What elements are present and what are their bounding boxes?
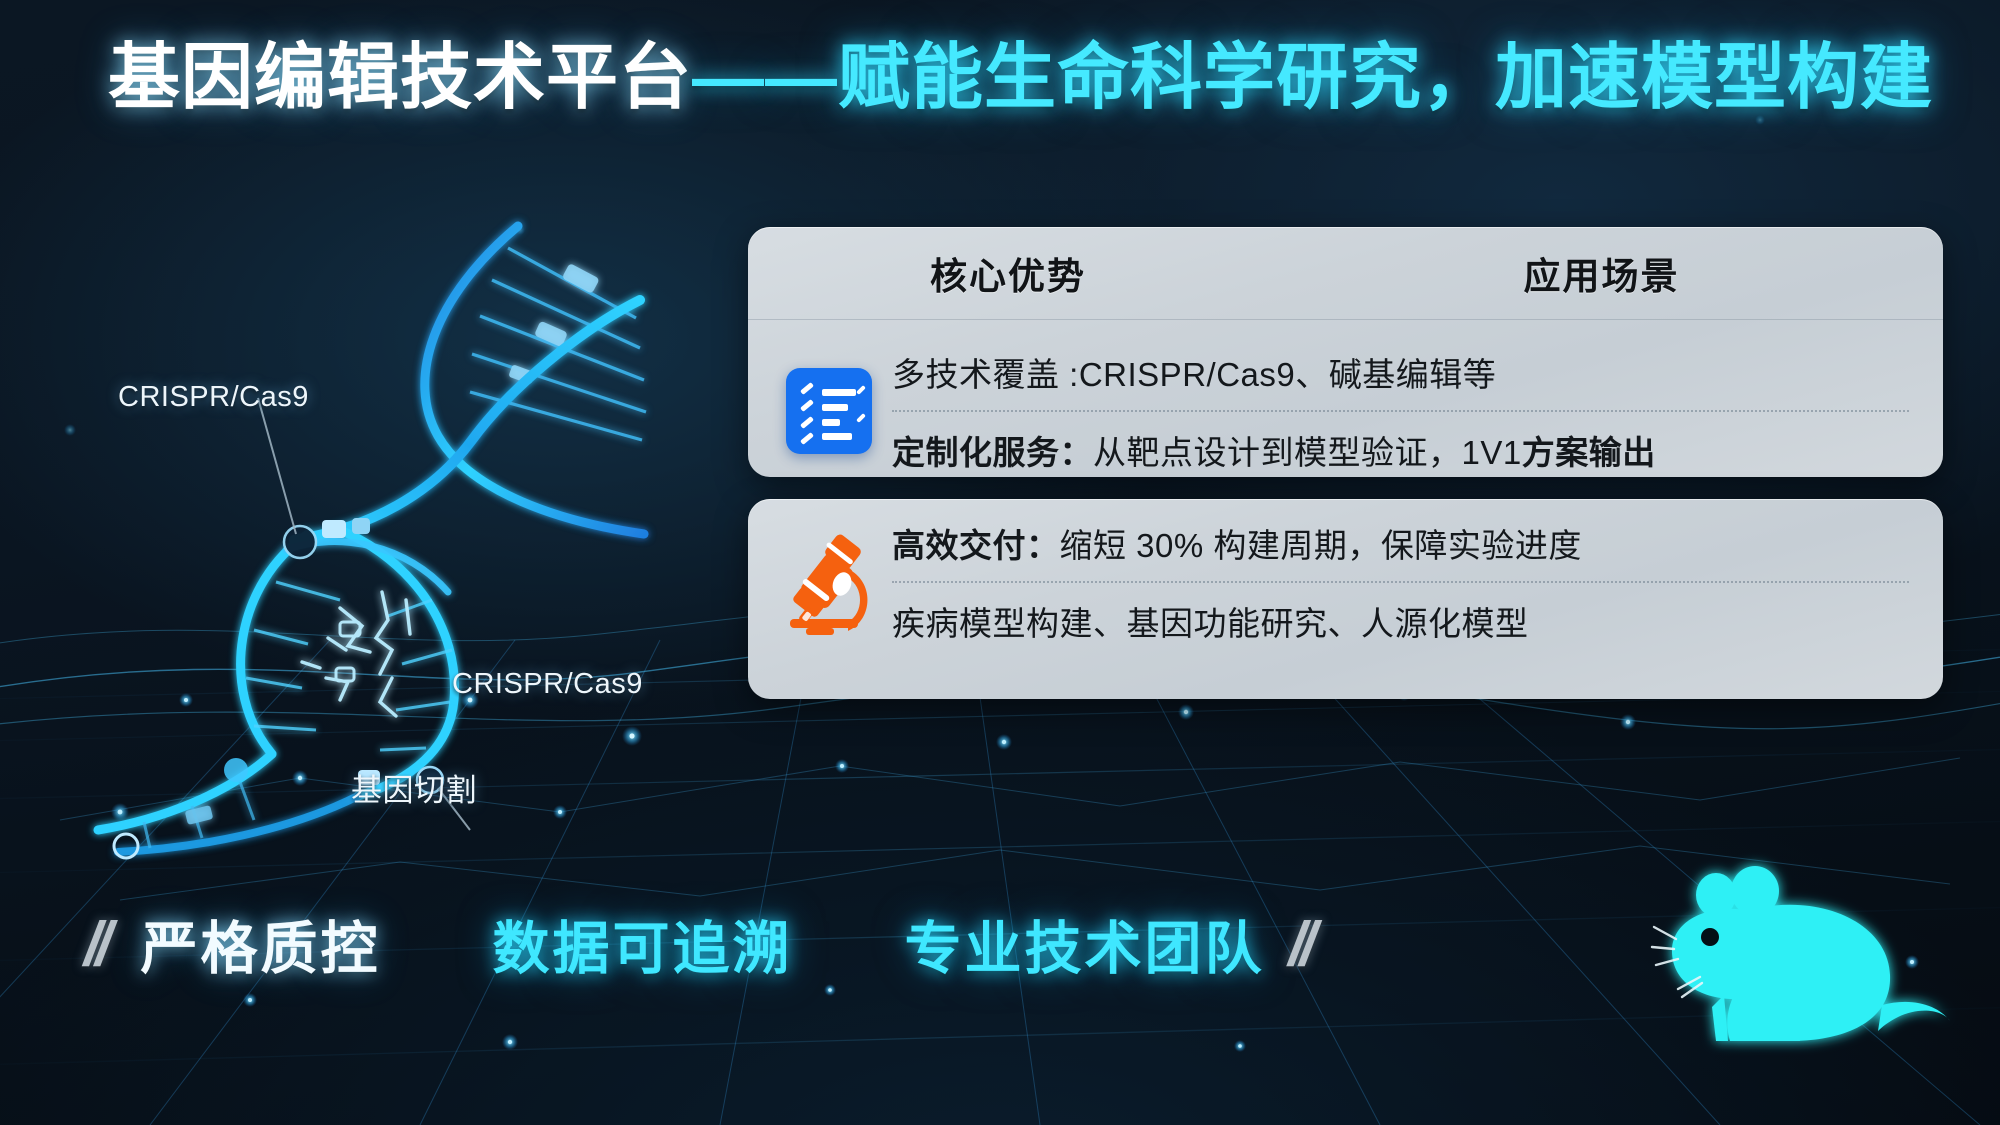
microscope-icon-wrap — [766, 505, 892, 659]
row-text: 多技术覆盖 :CRISPR/Cas9、碱基编辑等 — [892, 348, 1496, 396]
document-list-icon-wrap — [766, 334, 892, 488]
page-title: 基因编辑技术平台——赋能生命科学研究，加速模型构建 — [108, 42, 1933, 114]
slide-canvas: 基因编辑技术平台——赋能生命科学研究，加速模型构建 — [0, 0, 2000, 1125]
document-list-icon — [786, 368, 872, 454]
row-text: 疾病模型构建、基因功能研究、人源化模型 — [892, 597, 1529, 645]
tagline-data-traceable: 数据可追溯 — [492, 903, 792, 985]
title-accent: ——赋能生命科学研究，加速模型构建 — [692, 38, 1933, 118]
tagline-expert-team: 专业技术团队 — [904, 903, 1264, 985]
label-crispr-cas9-top: CRISPR/Cas9 — [118, 381, 309, 414]
slash-right-icon: // — [1288, 909, 1310, 980]
title-primary: 基因编辑技术平台 — [108, 38, 692, 118]
label-crispr-cas9-bottom: CRISPR/Cas9 — [452, 668, 643, 701]
lab-mouse-illustration — [1650, 855, 1980, 1095]
footer-taglines: // 严格质控 数据可追溯 专业技术团队 // — [84, 903, 1311, 985]
header-application-scenario: 应用场景 — [1268, 246, 1935, 300]
card-header-row: 核心优势 应用场景 — [748, 227, 1943, 320]
dna-helix-illustration — [40, 130, 680, 730]
microscope-icon — [774, 527, 884, 637]
card-application-scenario: 高效交付： 缩短 30% 构建周期，保障实验进度 疾病模型构建、基因功能研究、人… — [748, 499, 1943, 699]
slash-left-icon: // — [84, 909, 106, 980]
row-text: 缩短 30% 构建周期，保障实验进度 — [1060, 519, 1582, 567]
row-label: 高效交付： — [892, 519, 1060, 567]
card-row: 疾病模型构建、基因功能研究、人源化模型 — [892, 583, 1909, 659]
card-row: 多技术覆盖 :CRISPR/Cas9、碱基编辑等 — [892, 334, 1909, 412]
row-emphasis: 方案输出 — [1522, 426, 1656, 474]
label-gene-cut: 基因切割 — [351, 765, 477, 810]
info-panel: 核心优势 应用场景 — [748, 227, 1943, 699]
tagline-quality-control: 严格质控 — [140, 903, 380, 985]
header-core-advantage: 核心优势 — [748, 246, 1268, 300]
row-text: 从靶点设计到模型验证，1V1 — [1093, 426, 1522, 474]
row-label: 定制化服务： — [892, 426, 1093, 474]
card-row: 高效交付： 缩短 30% 构建周期，保障实验进度 — [892, 505, 1909, 583]
card-core-advantage: 核心优势 应用场景 — [748, 227, 1943, 477]
card-row: 定制化服务：从靶点设计到模型验证，1V1 方案输出 — [892, 412, 1909, 488]
